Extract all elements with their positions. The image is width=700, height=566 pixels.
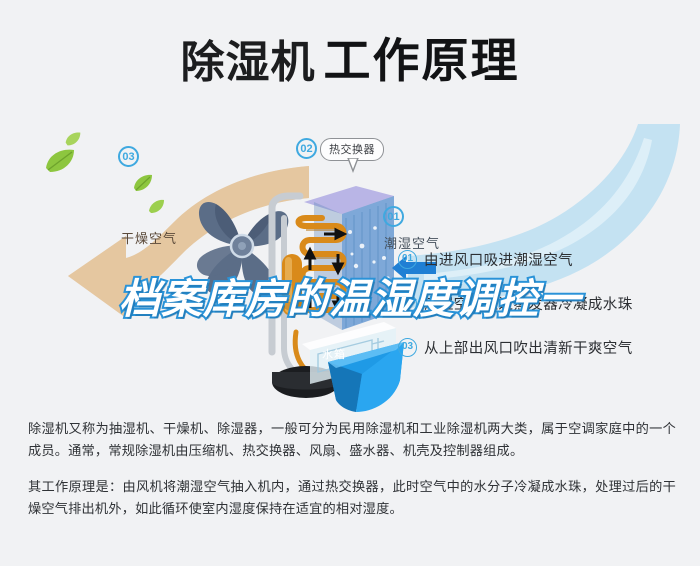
body-paragraph-2: 其工作原理是：由风机将潮湿空气抽入机内，通过热交换器，此时空气中的水分子冷凝成水… xyxy=(28,476,676,520)
callout-tail-icon xyxy=(345,158,361,174)
diagram-badge-01: 01 xyxy=(383,206,404,227)
step-badge-03: 03 xyxy=(398,338,417,357)
diagram-badge-03: 03 xyxy=(118,146,139,167)
water-tank-label: 水箱 xyxy=(322,346,346,362)
page-title: 除湿机工作原理 xyxy=(0,22,700,91)
body-copy: 除湿机又称为抽湿机、干燥机、除湿器，一般可分为民用除湿机和工业除湿机两大类，属于… xyxy=(28,418,676,520)
leaf-icon xyxy=(146,196,168,218)
watermark-overlay-text: 档案库房的温湿度调控一 xyxy=(0,265,700,325)
step-text-03: 从上部出风口吹出清新干爽空气 xyxy=(424,337,633,358)
page-title-primary: 除湿机 xyxy=(181,38,316,87)
list-item: 03 从上部出风口吹出清新干爽空气 xyxy=(398,334,688,360)
page-title-secondary: 工作原理 xyxy=(324,34,520,87)
leaf-icon xyxy=(130,170,156,196)
leaf-icon xyxy=(62,128,84,150)
diagram-badge-02: 02 xyxy=(296,138,317,159)
dry-air-label: 干燥空气 xyxy=(121,228,177,247)
body-paragraph-1: 除湿机又称为抽湿机、干燥机、除湿器，一般可分为民用除湿机和工业除湿机两大类，属于… xyxy=(28,418,676,462)
